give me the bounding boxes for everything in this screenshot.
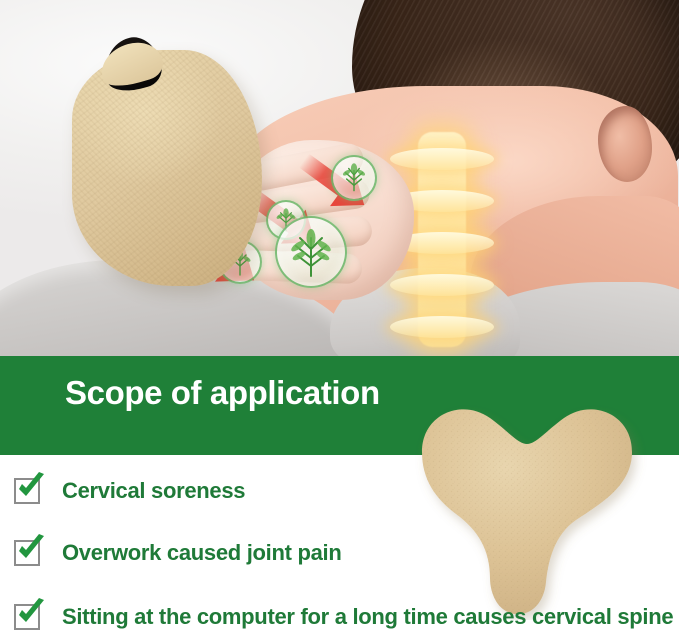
vertebra: [390, 274, 494, 296]
patch-shape: [378, 394, 676, 620]
checkmark-icon: [14, 476, 44, 506]
checklist-label: Cervical soreness: [62, 478, 245, 504]
product-listing-image: Scope of application: [0, 0, 679, 637]
check-tick: [13, 596, 47, 630]
patch-body: [72, 50, 262, 286]
herb-bubble-icon: [331, 155, 377, 201]
checkmark-icon: [14, 602, 44, 632]
checklist-label: Overwork caused joint pain: [62, 540, 342, 566]
checklist-item-computer-cervical-spine: Sitting at the computer for a long time …: [14, 602, 673, 632]
checkmark-icon: [14, 538, 44, 568]
checklist-item-cervical-soreness: Cervical soreness: [14, 476, 245, 506]
check-tick: [13, 470, 47, 504]
trefoil-neck-patch: [378, 394, 676, 620]
herb-bubble-icon: [275, 216, 347, 288]
check-tick: [13, 532, 47, 566]
patch-texture: [72, 50, 262, 286]
checklist-label: Sitting at the computer for a long time …: [62, 604, 673, 630]
checklist-item-overwork-joint-pain: Overwork caused joint pain: [14, 538, 342, 568]
vertebra: [390, 316, 494, 338]
hero-photo: [0, 0, 679, 356]
leaf-icon: [277, 218, 345, 286]
product-patch-peeling: [72, 38, 262, 286]
banner-title: Scope of application: [65, 374, 380, 412]
leaf-icon: [333, 157, 375, 199]
vertebra: [390, 148, 494, 170]
